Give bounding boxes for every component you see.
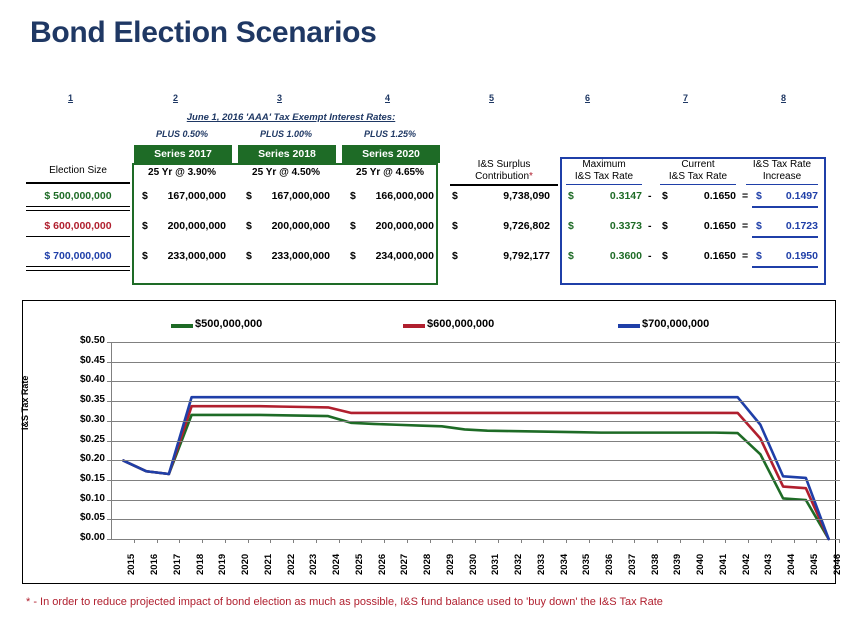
rate-increase-row-1: $ 0.1497 (756, 190, 818, 202)
rate-increase-underline-row-2 (752, 236, 818, 238)
chart-y-tick-label: $0.20 (57, 453, 105, 464)
chart-gridline (112, 401, 840, 402)
series-2020-row-1: $ 166,000,000 (346, 190, 442, 202)
column-number-row: 1 2 3 4 5 6 7 8 (0, 93, 852, 107)
rate-increase-underline-row-3 (752, 266, 818, 268)
chart-x-tick-label: 2028 (422, 554, 433, 575)
row-1-double-rule (26, 206, 130, 211)
legend-swatch-600000000 (403, 324, 425, 328)
series-header-2020: Series 2020 (342, 145, 440, 163)
value: 233,000,000 (138, 250, 234, 262)
current-rate-row-2: $ 0.1650 (662, 220, 736, 232)
rate-increase-header-rule (746, 184, 818, 185)
chart-x-tick-mark (703, 539, 704, 543)
chart-y-tick-label: $0.25 (57, 434, 105, 445)
series-2018-row-2: $ 200,000,000 (242, 220, 338, 232)
chart-x-tick-mark (589, 539, 590, 543)
chart-x-tick-label: 2015 (126, 554, 137, 575)
election-size-header: Election Size (28, 165, 128, 176)
chart-x-tick-mark (339, 539, 340, 543)
chart-y-tick-mark (107, 401, 111, 402)
chart-y-tick-label: $0.45 (57, 355, 105, 366)
dollar-sign: $ (246, 220, 252, 232)
election-size-header-rule (26, 182, 130, 184)
chart-x-tick-label: 2017 (172, 554, 183, 575)
chart-x-tick-label: 2029 (445, 554, 456, 575)
rate-increase-row-2: $ 0.1723 (756, 220, 818, 232)
chart-x-tick-mark (748, 539, 749, 543)
chart-y-tick-mark (107, 539, 111, 540)
chart-y-tick-label: $0.40 (57, 374, 105, 385)
value: 0.1650 (662, 190, 736, 202)
chart-y-tick-mark (107, 480, 111, 481)
chart-y-axis-label: I&S Tax Rate (20, 376, 30, 430)
chart-x-tick-label: 2046 (832, 554, 843, 575)
chart-x-tick-mark (498, 539, 499, 543)
chart-x-tick-label: 2033 (536, 554, 547, 575)
maximum-rate-row-2: $ 0.3373 (568, 220, 642, 232)
chart-x-tick-label: 2018 (195, 554, 206, 575)
chart-x-tick-mark (407, 539, 408, 543)
chart-x-tick-label: 2043 (763, 554, 774, 575)
chart-x-tick-label: 2045 (809, 554, 820, 575)
chart-x-tick-mark (543, 539, 544, 543)
chart-x-tick-mark (794, 539, 795, 543)
dollar-sign: $ (662, 220, 668, 232)
dollar-sign: $ (142, 190, 148, 202)
equals-operator-row-1: = (742, 190, 748, 202)
series-header-2018: Series 2018 (238, 145, 336, 163)
tax-rate-chart: $500,000,000$600,000,000$700,000,000 $0.… (22, 300, 836, 584)
chart-x-tick-mark (657, 539, 658, 543)
rate-increase-header-line1: I&S Tax Rate (753, 159, 811, 170)
footnote: * - In order to reduce projected impact … (26, 596, 836, 608)
maximum-rate-row-1: $ 0.3147 (568, 190, 642, 202)
chart-gridline (112, 421, 840, 422)
chart-x-tick-label: 2039 (672, 554, 683, 575)
dollar-sign: $ (568, 220, 574, 232)
chart-y-tick-mark (107, 460, 111, 461)
row-3-double-rule (26, 266, 130, 271)
value: 0.1650 (662, 250, 736, 262)
chart-x-tick-mark (361, 539, 362, 543)
rate-increase-underline-row-1 (752, 206, 818, 208)
dollar-sign: $ (756, 190, 762, 202)
column-number-6: 6 (585, 93, 590, 103)
chart-x-tick-mark (157, 539, 158, 543)
chart-x-tick-label: 2034 (559, 554, 570, 575)
chart-x-tick-mark (725, 539, 726, 543)
value: 0.1650 (662, 220, 736, 232)
surplus-header: I&S Surplus Contribution* (450, 159, 558, 183)
chart-x-tick-label: 2040 (695, 554, 706, 575)
election-size-row-2: $ 600,000,000 (28, 220, 128, 232)
chart-y-tick-label: $0.05 (57, 512, 105, 523)
current-rate-header-rule (660, 184, 736, 185)
legend-swatch-700000000 (618, 324, 640, 328)
chart-y-tick-label: $0.00 (57, 532, 105, 543)
surplus-row-3: $ 9,792,177 (452, 250, 556, 262)
dollar-sign: $ (452, 250, 458, 262)
minus-operator-row-3: - (648, 250, 652, 262)
column-number-7: 7 (683, 93, 688, 103)
chart-gridline (112, 362, 840, 363)
chart-x-tick-label: 2021 (263, 554, 274, 575)
series-2017-row-1: $ 167,000,000 (138, 190, 234, 202)
chart-x-tick-label: 2038 (650, 554, 661, 575)
series-2017-row-2: $ 200,000,000 (138, 220, 234, 232)
chart-x-tick-label: 2041 (718, 554, 729, 575)
plus-label-2020: PLUS 1.25% (340, 129, 440, 139)
chart-x-tick-label: 2025 (354, 554, 365, 575)
chart-x-tick-mark (316, 539, 317, 543)
current-rate-header-line2: I&S Tax Rate (669, 171, 727, 182)
chart-gridline (112, 460, 840, 461)
equals-operator-row-3: = (742, 250, 748, 262)
series-2017-row-3: $ 233,000,000 (138, 250, 234, 262)
value: 9,726,802 (452, 220, 556, 232)
column-number-5: 5 (489, 93, 494, 103)
chart-x-tick-mark (475, 539, 476, 543)
series-term-2018: 25 Yr @ 4.50% (238, 163, 334, 181)
chart-y-tick-label: $0.15 (57, 473, 105, 484)
chart-x-tick-mark (293, 539, 294, 543)
maximum-rate-header-line1: Maximum (582, 159, 625, 170)
election-size-row-3: $ 700,000,000 (28, 250, 128, 262)
chart-x-tick-label: 2023 (308, 554, 319, 575)
minus-operator-row-2: - (648, 220, 652, 232)
chart-y-tick-mark (107, 362, 111, 363)
chart-x-tick-label: 2035 (581, 554, 592, 575)
value: 0.3373 (568, 220, 642, 232)
dollar-sign: $ (756, 220, 762, 232)
value: 0.1497 (756, 190, 818, 202)
chart-x-tick-label: 2020 (240, 554, 251, 575)
value: 9,738,090 (452, 190, 556, 202)
dollar-sign: $ (350, 250, 356, 262)
chart-x-tick-mark (816, 539, 817, 543)
chart-y-tick-label: $0.50 (57, 335, 105, 346)
chart-x-tick-label: 2036 (604, 554, 615, 575)
current-rate-header-line1: Current (681, 159, 714, 170)
value: 233,000,000 (242, 250, 338, 262)
series-2020-row-3: $ 234,000,000 (346, 250, 442, 262)
chart-gridline (112, 342, 840, 343)
maximum-rate-header: Maximum I&S Tax Rate (564, 159, 644, 183)
legend-label-600000000: $600,000,000 (427, 318, 494, 330)
chart-x-tick-label: 2044 (786, 554, 797, 575)
chart-x-tick-label: 2032 (513, 554, 524, 575)
value: 200,000,000 (346, 220, 442, 232)
legend-label-700000000: $700,000,000 (642, 318, 709, 330)
dollar-sign: $ (756, 250, 762, 262)
dollar-sign: $ (452, 220, 458, 232)
chart-x-tick-mark (771, 539, 772, 543)
chart-x-tick-mark (612, 539, 613, 543)
value: 0.3600 (568, 250, 642, 262)
chart-x-tick-label: 2022 (286, 554, 297, 575)
dollar-sign: $ (246, 250, 252, 262)
chart-gridline (112, 500, 840, 501)
chart-x-tick-mark (839, 539, 840, 543)
chart-x-tick-label: 2026 (377, 554, 388, 575)
current-rate-row-3: $ 0.1650 (662, 250, 736, 262)
value: 0.1950 (756, 250, 818, 262)
chart-y-tick-mark (107, 342, 111, 343)
series-2018-row-1: $ 167,000,000 (242, 190, 338, 202)
chart-y-tick-label: $0.30 (57, 414, 105, 425)
chart-y-tick-mark (107, 381, 111, 382)
chart-x-tick-mark (680, 539, 681, 543)
plus-label-2017: PLUS 0.50% (132, 129, 232, 139)
maximum-rate-header-line2: I&S Tax Rate (575, 171, 633, 182)
chart-x-tick-mark (452, 539, 453, 543)
chart-x-tick-label: 2037 (627, 554, 638, 575)
series-2018-row-3: $ 233,000,000 (242, 250, 338, 262)
chart-gridline (112, 441, 840, 442)
current-rate-row-1: $ 0.1650 (662, 190, 736, 202)
equals-operator-row-2: = (742, 220, 748, 232)
minus-operator-row-1: - (648, 190, 652, 202)
dollar-sign: $ (568, 190, 574, 202)
chart-series-500000000 (123, 415, 828, 539)
page-title: Bond Election Scenarios (30, 16, 377, 50)
rate-increase-row-3: $ 0.1950 (756, 250, 818, 262)
value: 167,000,000 (138, 190, 234, 202)
chart-x-tick-mark (248, 539, 249, 543)
value: 167,000,000 (242, 190, 338, 202)
dollar-sign: $ (142, 250, 148, 262)
column-number-8: 8 (781, 93, 786, 103)
chart-y-tick-mark (107, 441, 111, 442)
chart-x-tick-mark (225, 539, 226, 543)
surplus-row-1: $ 9,738,090 (452, 190, 556, 202)
chart-gridline (112, 519, 840, 520)
chart-x-tick-mark (134, 539, 135, 543)
chart-x-tick-label: 2030 (468, 554, 479, 575)
chart-x-tick-label: 2031 (490, 554, 501, 575)
chart-y-tick-mark (107, 519, 111, 520)
slide-root: Bond Election Scenarios 1 2 3 4 5 6 7 8 … (0, 0, 852, 627)
chart-y-tick-mark (107, 500, 111, 501)
value: 166,000,000 (346, 190, 442, 202)
dollar-sign: $ (350, 220, 356, 232)
chart-x-tick-mark (430, 539, 431, 543)
value: 0.3147 (568, 190, 642, 202)
dollar-sign: $ (142, 220, 148, 232)
chart-x-tick-mark (179, 539, 180, 543)
value: 0.1723 (756, 220, 818, 232)
surplus-row-2: $ 9,726,802 (452, 220, 556, 232)
chart-x-tick-mark (202, 539, 203, 543)
interest-rates-header: June 1, 2016 'AAA' Tax Exempt Interest R… (146, 112, 436, 123)
chart-x-tick-label: 2016 (149, 554, 160, 575)
legend-swatch-500000000 (171, 324, 193, 328)
series-2020-row-2: $ 200,000,000 (346, 220, 442, 232)
series-term-2017: 25 Yr @ 3.90% (134, 163, 230, 181)
election-size-row-1: $ 500,000,000 (28, 190, 128, 202)
maximum-rate-header-rule (566, 184, 642, 185)
rate-increase-header: I&S Tax Rate Increase (742, 159, 822, 183)
chart-x-tick-mark (384, 539, 385, 543)
dollar-sign: $ (452, 190, 458, 202)
chart-y-tick-mark (107, 421, 111, 422)
chart-y-tick-label: $0.10 (57, 493, 105, 504)
maximum-rate-row-3: $ 0.3600 (568, 250, 642, 262)
chart-x-tick-mark (270, 539, 271, 543)
chart-x-tick-mark (521, 539, 522, 543)
legend-label-500000000: $500,000,000 (195, 318, 262, 330)
dollar-sign: $ (350, 190, 356, 202)
column-number-2: 2 (173, 93, 178, 103)
surplus-header-rule (450, 184, 558, 186)
dollar-sign: $ (662, 190, 668, 202)
value: 200,000,000 (138, 220, 234, 232)
surplus-header-line2: Contribution (475, 171, 529, 182)
chart-legend: $500,000,000$600,000,000$700,000,000 (23, 318, 835, 334)
chart-series-700000000 (123, 397, 828, 539)
value: 9,792,177 (452, 250, 556, 262)
dollar-sign: $ (568, 250, 574, 262)
series-header-2017: Series 2017 (134, 145, 232, 163)
chart-plot-area (111, 342, 840, 540)
chart-x-tick-label: 2042 (741, 554, 752, 575)
surplus-footnote-star: * (529, 171, 533, 182)
surplus-header-line1: I&S Surplus (478, 159, 531, 170)
rate-increase-header-line2: Increase (763, 171, 801, 182)
column-number-1: 1 (68, 93, 73, 103)
chart-gridline (112, 480, 840, 481)
chart-x-tick-label: 2019 (217, 554, 228, 575)
dollar-sign: $ (246, 190, 252, 202)
column-number-4: 4 (385, 93, 390, 103)
chart-x-tick-mark (566, 539, 567, 543)
series-term-2020: 25 Yr @ 4.65% (342, 163, 438, 181)
chart-x-tick-mark (634, 539, 635, 543)
dollar-sign: $ (662, 250, 668, 262)
chart-x-tick-label: 2027 (399, 554, 410, 575)
plus-label-2018: PLUS 1.00% (236, 129, 336, 139)
chart-y-tick-label: $0.35 (57, 394, 105, 405)
current-rate-header: Current I&S Tax Rate (658, 159, 738, 183)
value: 234,000,000 (346, 250, 442, 262)
chart-gridline (112, 381, 840, 382)
value: 200,000,000 (242, 220, 338, 232)
column-number-3: 3 (277, 93, 282, 103)
row-2-rule (26, 236, 130, 237)
chart-x-tick-label: 2024 (331, 554, 342, 575)
